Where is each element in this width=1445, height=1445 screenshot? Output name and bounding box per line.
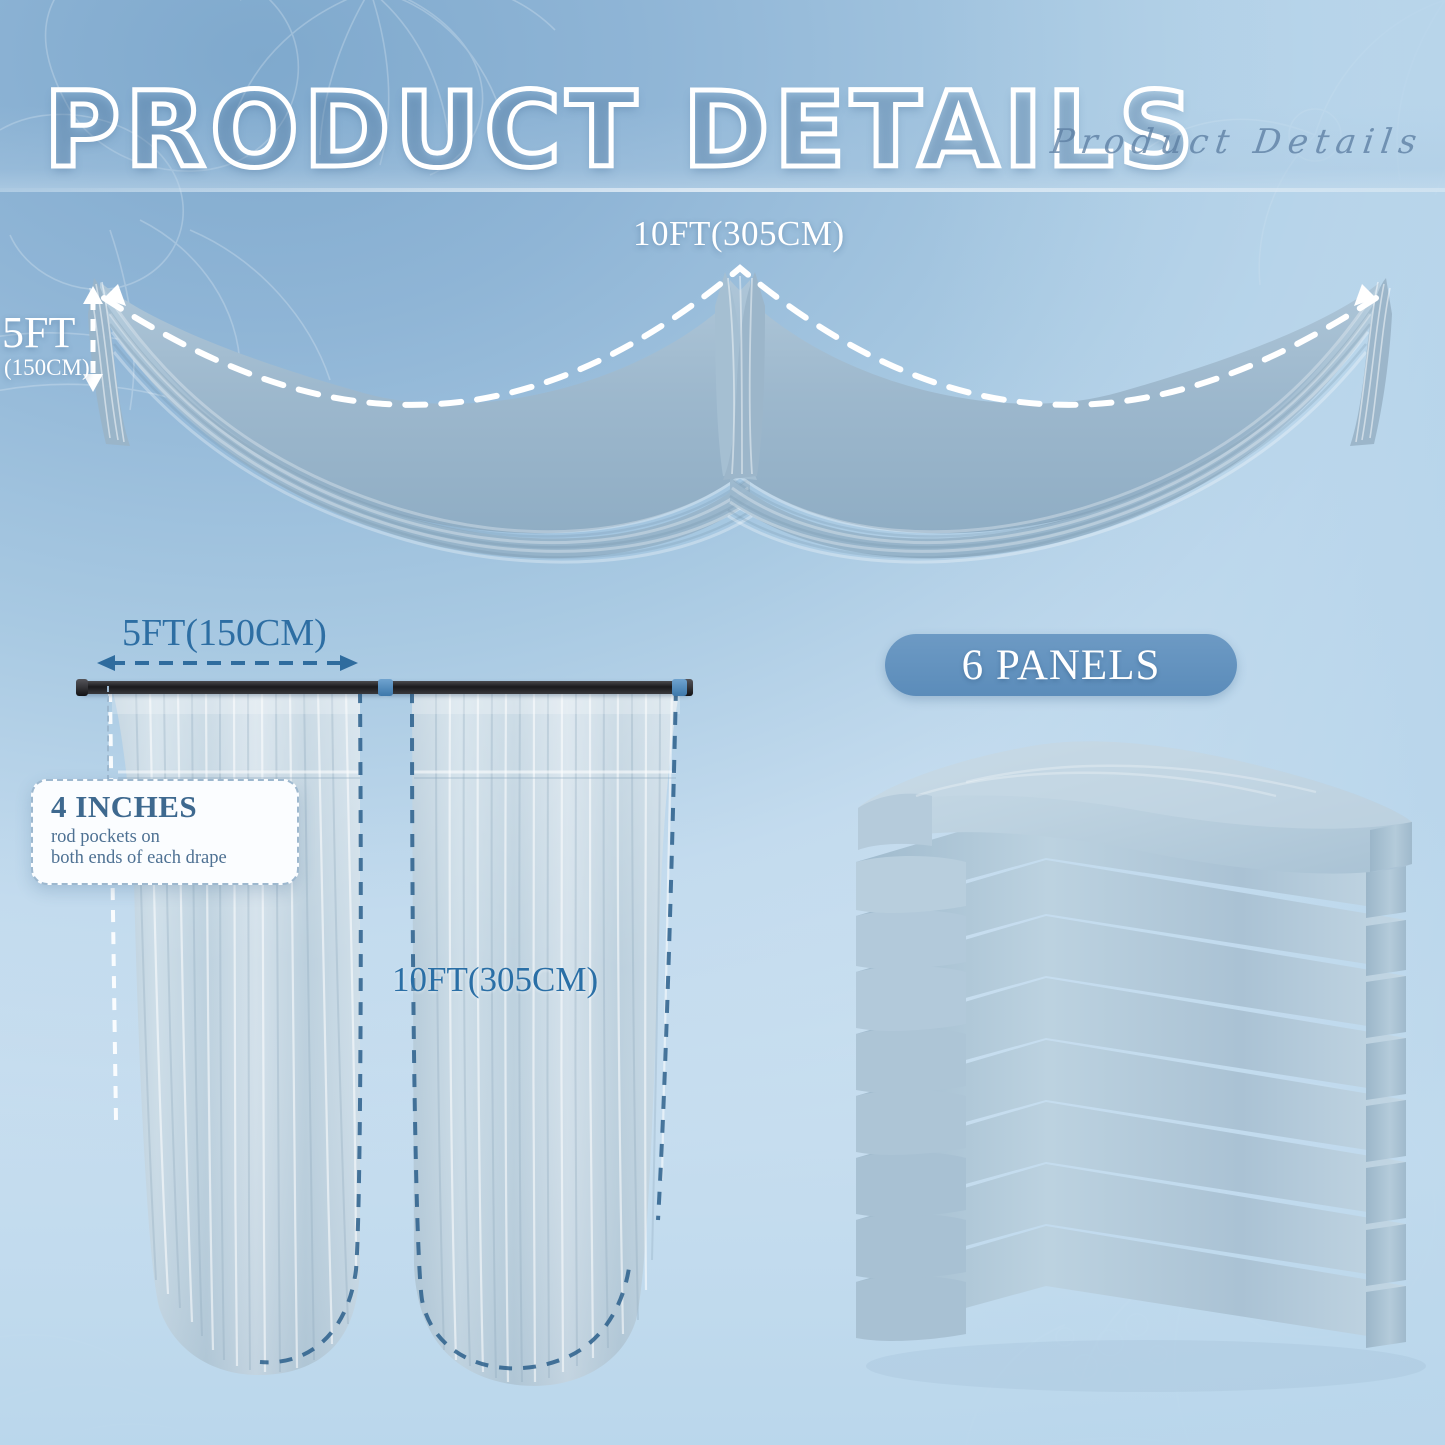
callout-line-2: both ends of each drape [51,848,283,869]
curtain-rod-left [80,681,385,694]
hanging-drapes-illustration [60,660,720,1400]
swag-drape-illustration [60,262,1420,572]
rod-cap-left [76,679,88,696]
curtain-rod-right [385,681,690,694]
rod-pocket-callout: 4 INCHES rod pockets on both ends of eac… [31,779,299,885]
panels-count-badge: 6 PANELS [885,634,1237,696]
callout-pointer-line [107,686,109,781]
callout-title: 4 INCHES [51,791,283,822]
rod-bracket-right [672,679,687,696]
page-title: PRODUCT DETAILS [44,78,1199,182]
callout-line-1: rod pockets on [51,827,283,848]
swag-drop-cm-label: (150CM) [4,356,90,380]
swag-length-label: 10FT(305CM) [633,216,845,253]
page-subtitle-script: Product Details [1048,122,1426,162]
swag-drop-ft-label: 5FT [2,310,75,356]
rod-bracket-center [378,679,393,696]
panel-width-label: 5FT(150CM) [122,614,327,654]
panels-count-label: 6 PANELS [962,641,1161,690]
product-details-graphic: PRODUCT DETAILS Product Details [0,0,1445,1445]
panel-width-measure-arrow [95,652,360,674]
panel-length-label: 10FT(305CM) [392,962,598,999]
folded-panels-stack [846,726,1445,1426]
